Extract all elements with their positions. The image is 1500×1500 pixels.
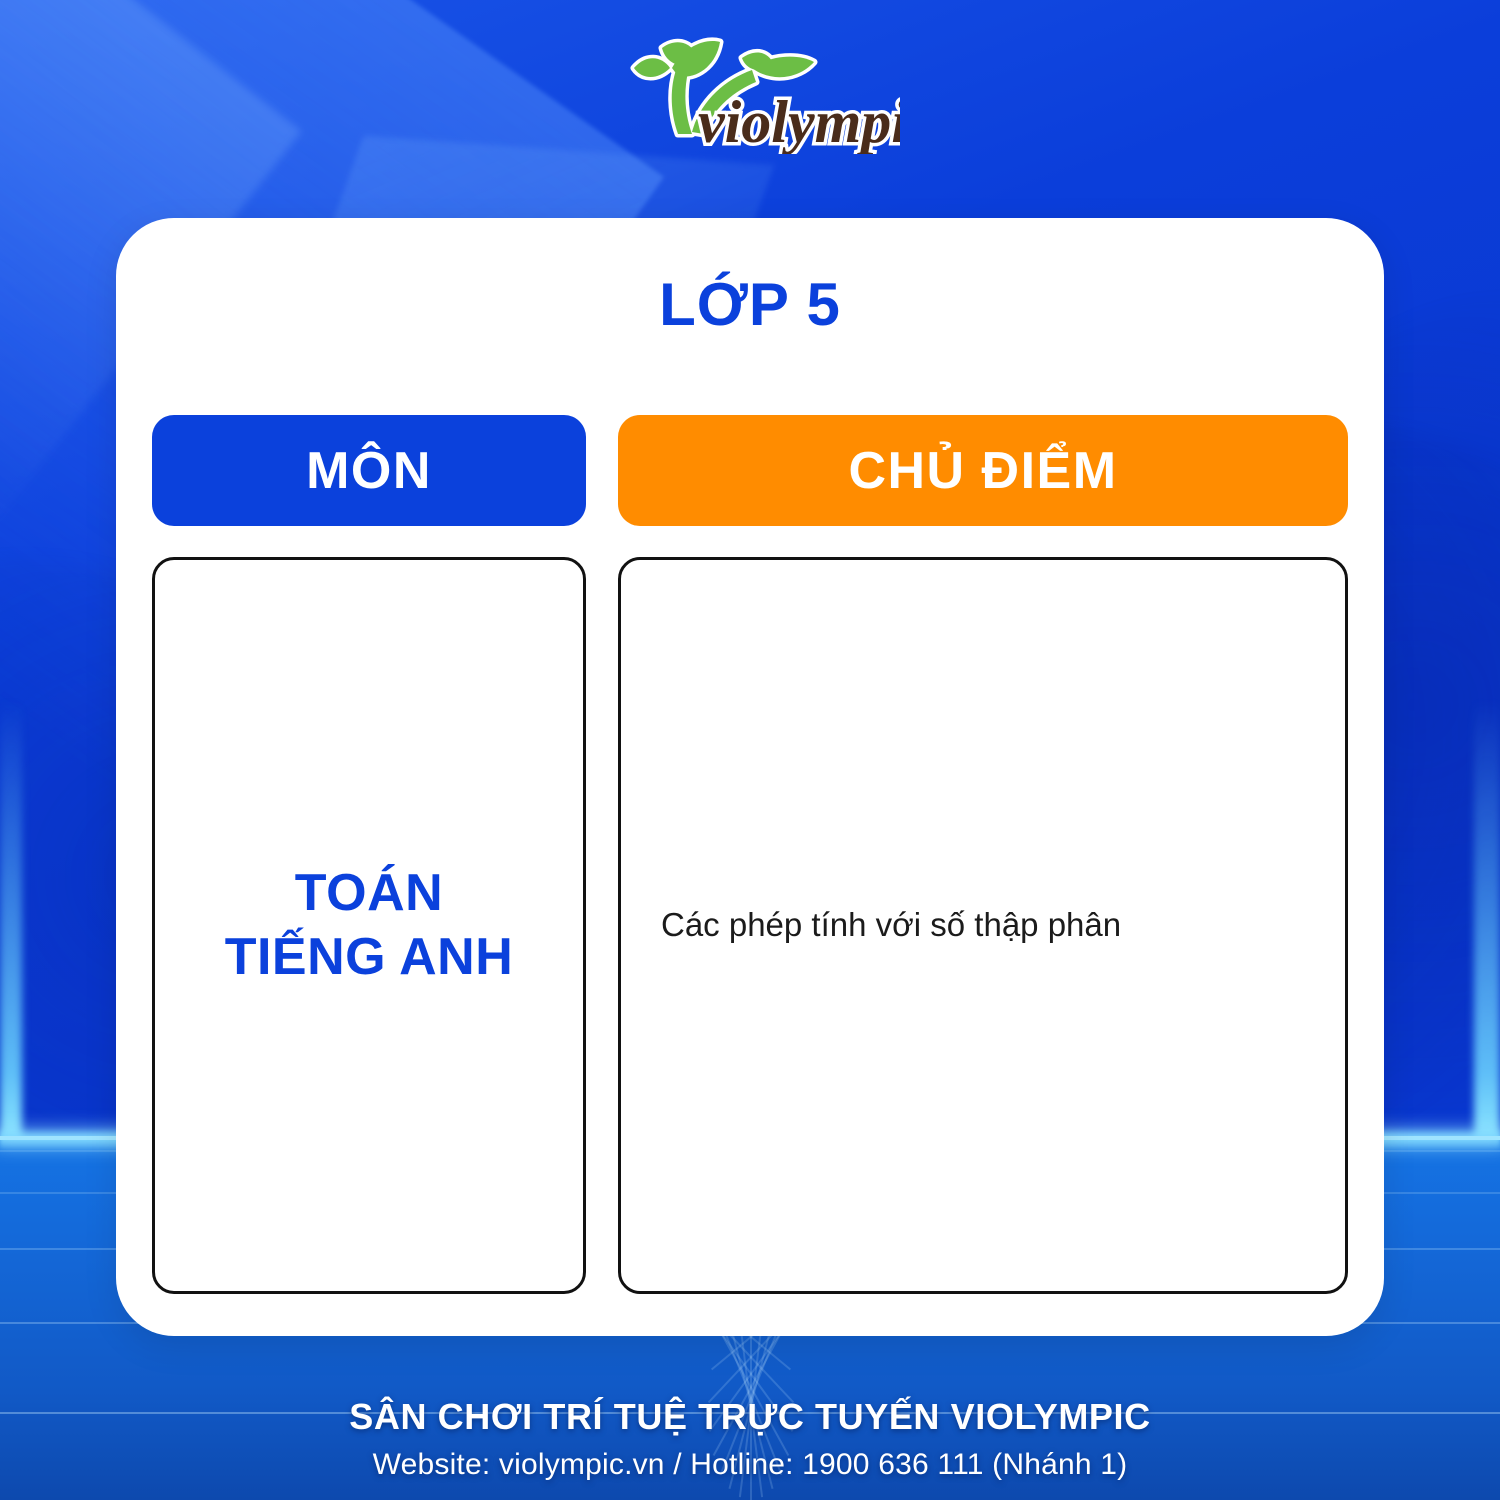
subject-panel: TOÁN TIẾNG ANH: [152, 557, 586, 1294]
topic-panel: Các phép tính với số thập phân: [618, 557, 1348, 1294]
column-header-subject-label: MÔN: [306, 441, 432, 501]
column-header-subject: MÔN: [152, 415, 586, 526]
poster-canvas: violympic LỚP 5 MÔN CHỦ ĐIỂM TOÁN TIẾNG …: [0, 0, 1500, 1500]
brand-logo: violympic: [0, 24, 1500, 154]
footer: SÂN CHƠI TRÍ TUỆ TRỰC TUYẾN VIOLYMPIC We…: [0, 1396, 1500, 1482]
logo-wordmark: violympic: [698, 89, 900, 154]
violympic-logo-icon: violympic: [600, 24, 900, 154]
subject-line: TOÁN: [225, 862, 514, 925]
column-header-topic-label: CHỦ ĐIỂM: [848, 441, 1117, 501]
page-title: LỚP 5: [116, 270, 1384, 339]
footer-contact: Website: violympic.vn / Hotline: 1900 63…: [0, 1448, 1500, 1482]
table-header-row: MÔN CHỦ ĐIỂM: [152, 415, 1348, 526]
topic-value: Các phép tính với số thập phân: [621, 902, 1161, 948]
subject-line: TIẾNG ANH: [225, 926, 514, 989]
subject-value: TOÁN TIẾNG ANH: [213, 862, 526, 989]
background-glow-right: [1474, 700, 1500, 1140]
table-body-row: TOÁN TIẾNG ANH Các phép tính với số thập…: [152, 557, 1348, 1294]
column-header-topic: CHỦ ĐIỂM: [618, 415, 1348, 526]
footer-headline: SÂN CHƠI TRÍ TUỆ TRỰC TUYẾN VIOLYMPIC: [0, 1396, 1500, 1438]
background-glow-left: [0, 700, 22, 1140]
content-card: LỚP 5 MÔN CHỦ ĐIỂM TOÁN TIẾNG ANH Các ph…: [116, 218, 1384, 1336]
